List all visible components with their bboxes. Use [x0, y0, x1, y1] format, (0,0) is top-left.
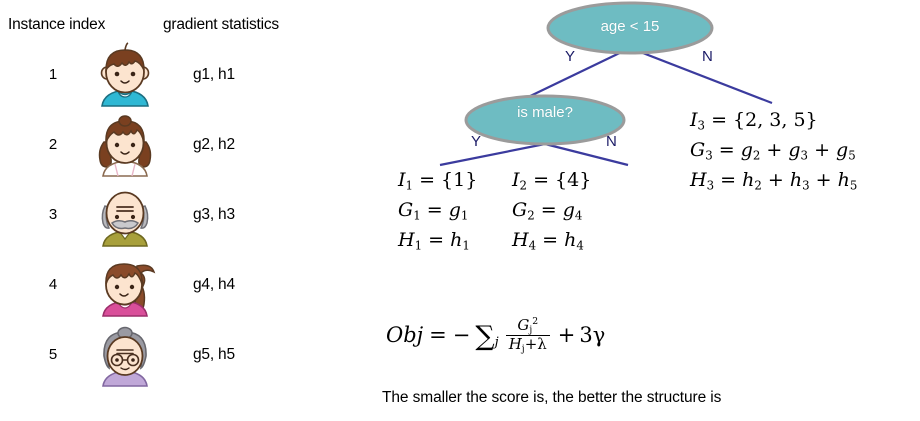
leaf-3-instance-set: I3 = {2, 3, 5}	[690, 105, 857, 135]
leaf-2-instance-set: I2 = {4}	[512, 165, 591, 195]
leaf-1-hessian-sum: H1 = h1	[398, 225, 477, 255]
edge-root-no	[630, 48, 772, 103]
fraction-denominator: Hj+λ	[506, 335, 550, 353]
objective-fraction: Gj2 Hj+λ	[506, 318, 550, 353]
column-header-instance-index: Instance index	[8, 16, 105, 34]
young-woman-avatar	[92, 252, 158, 318]
fraction-numerator: Gj2	[514, 318, 541, 335]
edge-male-yes	[440, 144, 545, 165]
leaf-1-g-term: g1	[449, 199, 469, 221]
edge-label-root-yes: Y	[565, 48, 575, 65]
row-index-label: 2	[40, 136, 66, 153]
row-gradient-stats: g3, h3	[193, 206, 235, 224]
leaf-1-gradient-sum: G1 = g1	[398, 195, 477, 225]
leaf-node-3-formulas: I3 = {2, 3, 5} G3 = g2 + g3 + g5 H3 = h2…	[690, 105, 857, 195]
tree-node-is-male-label: is male?	[470, 104, 620, 121]
instance-table: Instance index gradient statistics 1	[0, 0, 360, 421]
leaf-1-h-term: h1	[450, 229, 470, 251]
objective-formula: Obj = − ∑ j Gj2 Hj+λ + 3γ	[386, 318, 605, 353]
obj-equals: =	[429, 323, 447, 347]
obj-lhs: Obj	[386, 323, 423, 347]
leaf-3-hessian-sum: H3 = h2 + h3 + h5	[690, 165, 857, 195]
row-index-label: 4	[40, 276, 66, 293]
old-woman-avatar	[92, 322, 158, 388]
leaf-node-2-formulas: I2 = {4} G2 = g4 H4 = h4	[512, 165, 591, 255]
row-gradient-stats: g4, h4	[193, 276, 235, 294]
row-gradient-stats: g5, h5	[193, 346, 235, 364]
leaf-3-h-term: h2 + h3 + h5	[742, 169, 857, 191]
row-index-label: 3	[40, 206, 66, 223]
leaf-2-gradient-sum: G2 = g4	[512, 195, 591, 225]
boy-avatar	[92, 42, 158, 108]
leaf-2-h-term: h4	[564, 229, 584, 251]
edge-label-male-no: N	[606, 133, 617, 150]
summation-symbol: ∑	[475, 323, 494, 350]
table-row: 3 g3, h3	[0, 180, 360, 250]
decision-tree-diagram: age < 15 is male? Y N Y N I1 = {1} G1 = …	[360, 0, 920, 421]
summation-index: j	[495, 335, 499, 350]
old-man-avatar	[92, 182, 158, 248]
leaf-3-gradient-sum: G3 = g2 + g3 + g5	[690, 135, 857, 165]
girl-avatar	[92, 112, 158, 178]
edge-label-male-yes: Y	[471, 133, 481, 150]
leaf-node-1-formulas: I1 = {1} G1 = g1 H1 = h1	[398, 165, 477, 255]
obj-minus-sign: −	[453, 323, 471, 347]
obj-plus-sign: +	[558, 323, 576, 347]
caption-text: The smaller the score is, the better the…	[382, 389, 721, 407]
table-row: 1 g1, h1	[0, 40, 360, 110]
table-row: 4 g4, h4	[0, 250, 360, 320]
leaf-2-hessian-sum: H4 = h4	[512, 225, 591, 255]
leaf-3-g-term: g2 + g3 + g5	[741, 139, 856, 161]
row-gradient-stats: g2, h2	[193, 136, 235, 154]
tree-node-root-label: age < 15	[555, 18, 705, 35]
row-index-label: 1	[40, 66, 66, 83]
leaf-2-g-term: g4	[563, 199, 583, 221]
column-header-gradient-statistics: gradient statistics	[163, 16, 279, 34]
row-index-label: 5	[40, 346, 66, 363]
table-row: 5 g5, h5	[0, 320, 360, 390]
obj-gamma-term: 3γ	[579, 323, 605, 347]
leaf-1-instance-set: I1 = {1}	[398, 165, 477, 195]
table-row: 2 g2, h2	[0, 110, 360, 180]
row-gradient-stats: g1, h1	[193, 66, 235, 84]
edge-root-yes	[522, 48, 630, 100]
edge-label-root-no: N	[702, 48, 713, 65]
